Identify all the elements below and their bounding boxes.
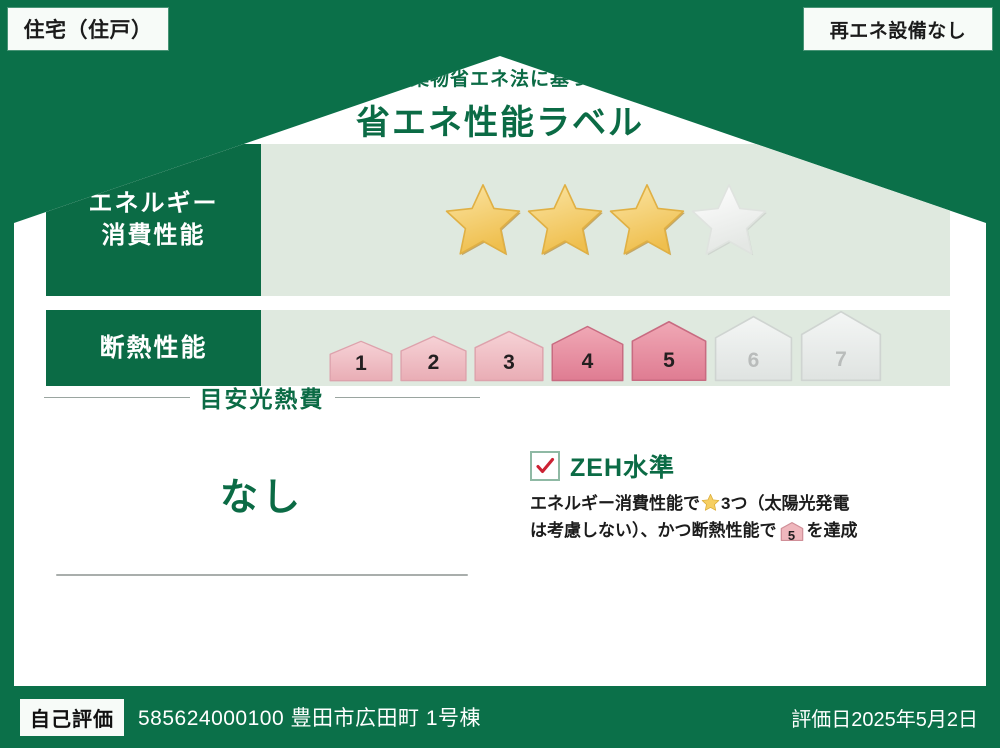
- footer-id-address: 585624000100 豊田市広田町 1号棟: [138, 702, 481, 732]
- insulation-grade-5: 5: [630, 320, 708, 382]
- insulation-grade-2: 2: [399, 335, 468, 382]
- insulation-grade-4: 4: [550, 325, 625, 382]
- zeh-description: エネルギー消費性能で3つ（太陽光発電 は考慮しない）、かつ断熱性能で5を達成: [530, 491, 950, 550]
- evaluation-date: 評価日2025年5月2日: [791, 703, 978, 732]
- insulation-grade-badge: 5: [780, 522, 804, 550]
- energy-performance-label: エネルギー 消費性能: [46, 144, 261, 296]
- zeh-desc-line1-b: 3つ（太陽光発電: [721, 494, 849, 513]
- insulation-performance-value: 1234567: [261, 310, 950, 386]
- heading-rule-left: [44, 397, 190, 398]
- zeh-desc-line2-a: は考慮しない）、かつ断熱性能で: [530, 521, 777, 540]
- insulation-grade-number: 7: [799, 348, 883, 372]
- insulation-performance-label-text: 断熱性能: [99, 332, 207, 365]
- heading-rule-right: [335, 397, 481, 398]
- energy-performance-value: [261, 144, 950, 296]
- utility-cost-bottom-rule: [56, 574, 468, 576]
- zeh-desc-line1-a: エネルギー消費性能で: [530, 494, 700, 513]
- building-type-tag-label: 住宅（住戸）: [24, 14, 153, 44]
- energy-performance-label: 住宅（住戸） 再エネ設備なし 建築物省エネ法に基づく 省エネ性能ラベル エネルギ…: [0, 0, 1000, 748]
- insulation-grade-3: 3: [473, 330, 545, 382]
- star-icon: [701, 493, 720, 512]
- label-card: 建築物省エネ法に基づく 省エネ性能ラベル エネルギー 消費性能 断熱性能: [14, 56, 986, 686]
- title-block: 建築物省エネ法に基づく 省エネ性能ラベル: [14, 64, 986, 144]
- zeh-desc-line2-b: を達成: [807, 521, 858, 540]
- insulation-grade-6: 6: [713, 315, 794, 382]
- insulation-grade-scale: 1234567: [328, 310, 883, 386]
- footer: 自己評価 585624000100 豊田市広田町 1号棟 評価日2025年5月2…: [0, 686, 1000, 748]
- page-title: 省エネ性能ラベル: [14, 95, 986, 144]
- zeh-section: ZEH水準 エネルギー消費性能で3つ（太陽光発電 は考慮しない）、かつ断熱性能で…: [530, 448, 950, 550]
- zeh-title: ZEH水準: [570, 448, 675, 484]
- insulation-grade-7: 7: [799, 310, 883, 382]
- insulation-grade-number: 3: [473, 351, 545, 375]
- evaluation-type-badge: 自己評価: [20, 699, 124, 736]
- star-icon-filled: [444, 181, 522, 259]
- utility-cost-body: なし: [44, 408, 480, 578]
- insulation-grade-badge-number: 5: [780, 526, 804, 547]
- energy-performance-label-line1: エネルギー: [89, 188, 219, 220]
- energy-performance-row: エネルギー 消費性能: [46, 144, 950, 296]
- renewable-energy-tag: 再エネ設備なし: [804, 8, 992, 50]
- utility-cost-value: なし: [220, 466, 304, 521]
- check-icon: [535, 456, 555, 476]
- renewable-energy-tag-label: 再エネ設備なし: [830, 16, 967, 43]
- insulation-performance-label: 断熱性能: [46, 310, 261, 386]
- star-icon-filled: [608, 181, 686, 259]
- insulation-grade-number: 4: [550, 350, 625, 374]
- star-icon-empty: [690, 181, 768, 259]
- insulation-grade-number: 2: [399, 351, 468, 375]
- zeh-checkbox[interactable]: [530, 451, 560, 481]
- star-icon-filled: [526, 181, 604, 259]
- building-type-tag: 住宅（住戸）: [8, 8, 168, 50]
- title-subtitle: 建築物省エネ法に基づく: [14, 64, 986, 91]
- zeh-heading: ZEH水準: [530, 448, 950, 484]
- insulation-performance-row: 断熱性能 1234567: [46, 310, 950, 386]
- insulation-grade-number: 5: [630, 349, 708, 373]
- insulation-grade-number: 6: [713, 349, 794, 373]
- performance-rows: エネルギー 消費性能 断熱性能 1234567: [46, 144, 950, 400]
- insulation-grade-number: 1: [328, 352, 394, 376]
- star-rating: [444, 181, 768, 259]
- energy-performance-label-line2: 消費性能: [102, 220, 206, 252]
- insulation-grade-1: 1: [328, 340, 394, 382]
